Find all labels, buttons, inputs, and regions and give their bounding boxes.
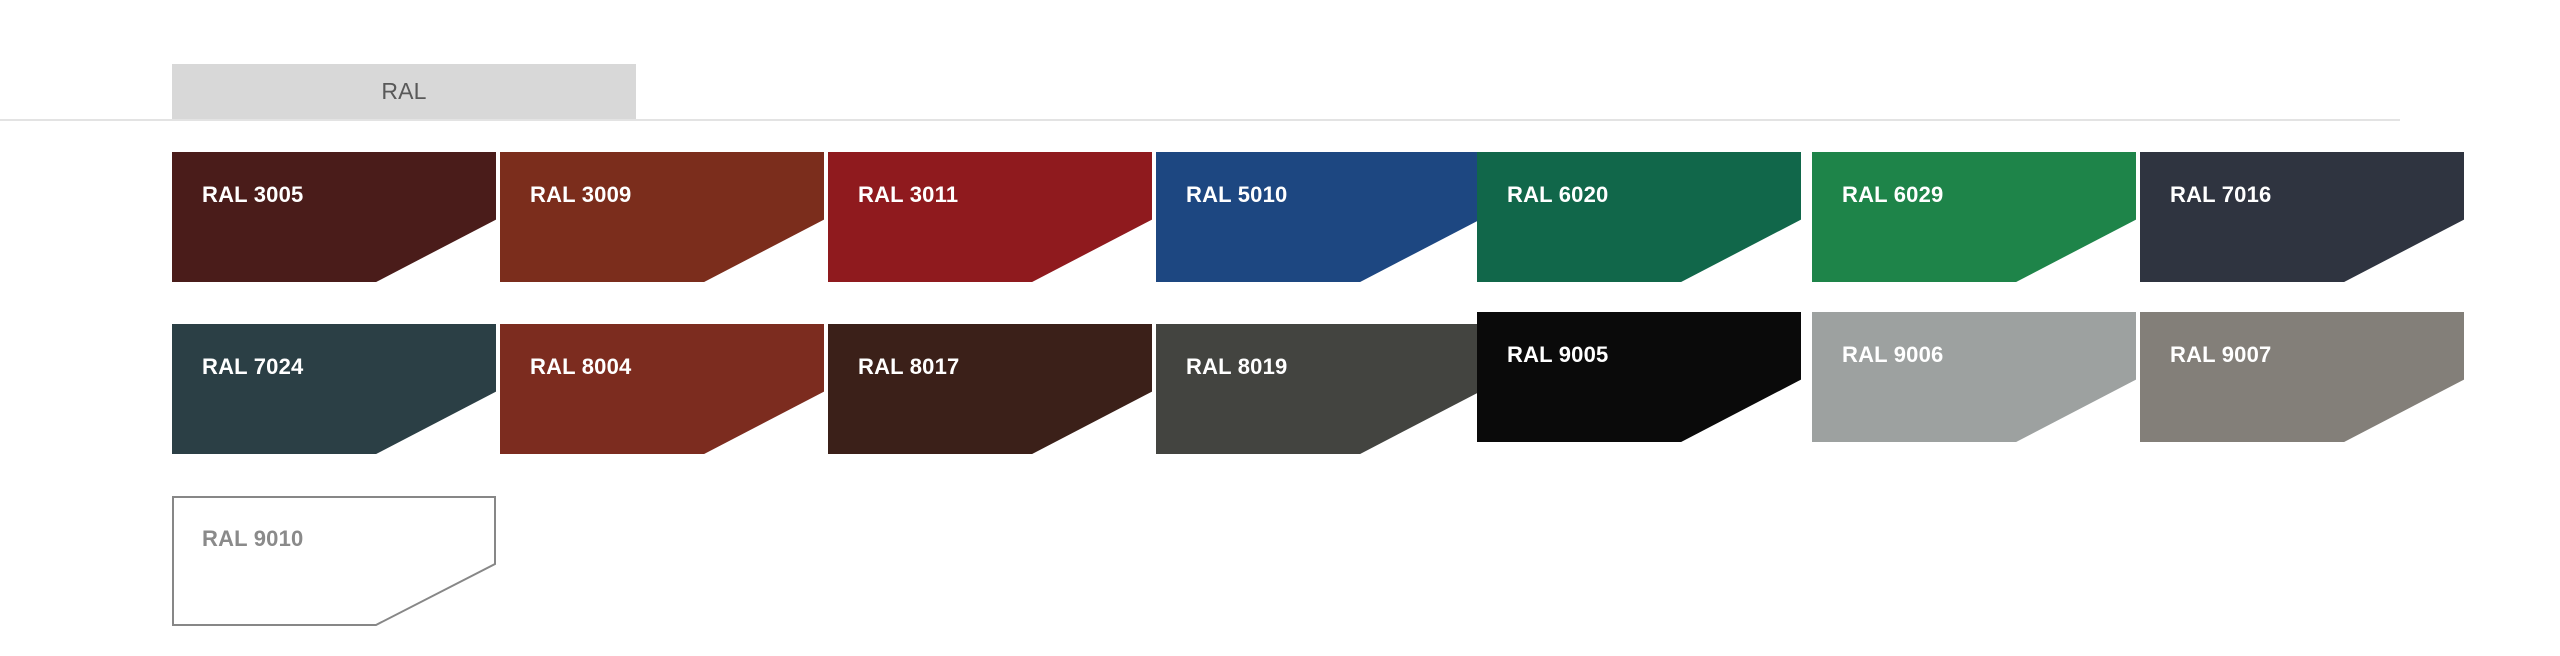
swatch-label: RAL 9006 (1842, 342, 1943, 368)
swatch-fill[interactable] (1812, 312, 2136, 442)
swatch-ral-5010[interactable]: RAL 5010 (1156, 152, 1480, 282)
swatch-fill[interactable] (1477, 152, 1801, 282)
swatch-ral-9006[interactable]: RAL 9006 (1812, 312, 2136, 442)
swatch-ral-3011[interactable]: RAL 3011 (828, 152, 1152, 282)
swatch-fill[interactable] (828, 324, 1152, 454)
swatch-ral-8019[interactable]: RAL 8019 (1156, 324, 1480, 454)
swatch-label: RAL 5010 (1186, 182, 1287, 208)
swatch-label: RAL 8019 (1186, 354, 1287, 380)
swatch-outline-shape (172, 496, 496, 626)
swatch-label: RAL 3011 (858, 182, 958, 208)
swatch-ral-9005[interactable]: RAL 9005 (1477, 312, 1801, 442)
swatch-row: RAL 3005RAL 3009RAL 3011RAL 5010RAL 6020… (0, 140, 2560, 296)
swatch-fill[interactable] (2140, 152, 2464, 282)
swatch-fill[interactable] (1156, 152, 1480, 282)
swatch-ral-7024[interactable]: RAL 7024 (172, 324, 496, 454)
swatch-label: RAL 9007 (2170, 342, 2271, 368)
swatch-fill[interactable] (1156, 324, 1480, 454)
swatch-fill[interactable] (500, 152, 824, 282)
swatch-label: RAL 7024 (202, 354, 303, 380)
swatch-fill[interactable] (1812, 152, 2136, 282)
swatch-ral-7016[interactable]: RAL 7016 (2140, 152, 2464, 282)
swatch-ral-9007[interactable]: RAL 9007 (2140, 312, 2464, 442)
swatch-ral-3009[interactable]: RAL 3009 (500, 152, 824, 282)
swatch-fill[interactable] (172, 152, 496, 282)
swatch-ral-8017[interactable]: RAL 8017 (828, 324, 1152, 454)
swatch-label: RAL 9005 (1507, 342, 1608, 368)
swatch-label: RAL 7016 (2170, 182, 2271, 208)
swatch-ral-6020[interactable]: RAL 6020 (1477, 152, 1801, 282)
swatch-label: RAL 6029 (1842, 182, 1943, 208)
tab-strip-divider (0, 119, 2400, 121)
swatch-row: RAL 7024RAL 8004RAL 8017RAL 8019RAL 9005… (0, 312, 2560, 468)
swatch-label: RAL 6020 (1507, 182, 1608, 208)
swatch-fill[interactable] (1477, 312, 1801, 442)
swatch-fill[interactable] (172, 324, 496, 454)
swatch-ral-8004[interactable]: RAL 8004 (500, 324, 824, 454)
swatch-ral-9010[interactable]: RAL 9010 (172, 496, 496, 626)
swatch-label: RAL 9010 (202, 526, 303, 552)
swatch-fill[interactable] (2140, 312, 2464, 442)
tab-strip: RAL (0, 64, 2560, 120)
swatch-label: RAL 3009 (530, 182, 631, 208)
swatch-fill[interactable] (500, 324, 824, 454)
swatch-label: RAL 8004 (530, 354, 631, 380)
swatch-label: RAL 8017 (858, 354, 959, 380)
tab-ral[interactable]: RAL (172, 64, 636, 119)
swatch-ral-6029[interactable]: RAL 6029 (1812, 152, 2136, 282)
swatch-label: RAL 3005 (202, 182, 303, 208)
swatch-row: RAL 9010 (0, 484, 2560, 640)
swatch-fill[interactable] (828, 152, 1152, 282)
tab-ral-label: RAL (381, 78, 426, 105)
swatch-ral-3005[interactable]: RAL 3005 (172, 152, 496, 282)
colour-swatch-grid: RAL 3005RAL 3009RAL 3011RAL 5010RAL 6020… (0, 140, 2560, 656)
